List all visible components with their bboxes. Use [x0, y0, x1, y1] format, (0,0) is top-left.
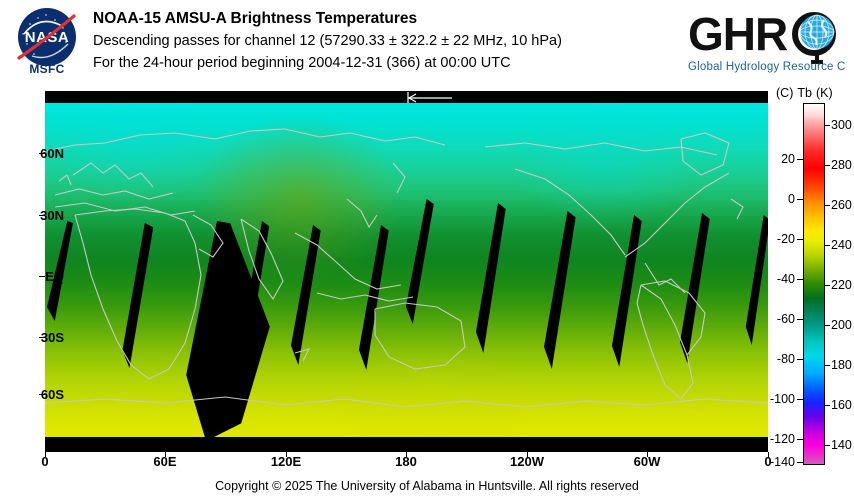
colorbar-tick-k-200	[824, 325, 830, 326]
ghrc-tagline: Global Hydrology Resource Center	[688, 61, 846, 73]
colorbar-tick-c-m140	[797, 462, 803, 463]
title-block: NOAA-15 AMSU-A Brightness Temperatures D…	[93, 8, 673, 74]
lat-label-30s: 30S	[4, 331, 64, 344]
lon-label-60e: 60E	[135, 455, 195, 468]
nasa-center-label: MSFC	[10, 62, 84, 76]
colorbar-tick-c-m40	[797, 279, 803, 280]
colorbar-variable: Tb	[797, 86, 812, 100]
colorbar-label-k-240: 240	[831, 239, 854, 251]
colorbar-label-k-160: 160	[831, 399, 854, 411]
colorbar-tick-k-300	[824, 125, 830, 126]
colorbar-label-c-m100: -100	[757, 393, 795, 405]
lat-label-60s: 60S	[4, 388, 64, 401]
colorbar-header: (C)Tb(K)	[776, 86, 837, 100]
colorbar-tick-k-160	[824, 405, 830, 406]
map-figure[interactable]	[45, 91, 768, 452]
colorbar-label-c-m120: -120	[757, 433, 795, 445]
ghrc-logo: GHR Global Hydrology Resource Center	[686, 2, 846, 78]
map-data-area[interactable]	[45, 103, 768, 437]
colorbar-label-k-300: 300	[831, 119, 854, 131]
lon-label-60w: 60W	[617, 455, 677, 468]
colorbar-label-k-140: 140	[831, 439, 854, 451]
lon-label-0w: 0	[15, 455, 75, 468]
lat-label-30n: 30N	[4, 209, 64, 222]
colorbar-tick-c-m60	[797, 319, 803, 320]
lat-label-eq: EQ	[4, 270, 64, 283]
colorbar-unit-kelvin: (K)	[816, 86, 833, 100]
colorbar-label-c-m80: -80	[757, 353, 795, 365]
colorbar-unit-celsius: (C)	[776, 86, 793, 100]
colorbar-label-k-220: 220	[831, 279, 854, 291]
lat-tick-30s	[39, 337, 45, 338]
colorbar-tick-c-0	[797, 199, 803, 200]
colorbar-tick-k-240	[824, 245, 830, 246]
lon-label-120e: 120E	[256, 455, 316, 468]
colorbar-gradient	[803, 103, 825, 465]
lat-label-60n: 60N	[4, 147, 64, 160]
colorbar-tick-c-m120	[797, 439, 803, 440]
colorbar-tick-k-260	[824, 205, 830, 206]
swath-direction-arrow	[400, 91, 460, 103]
lon-label-120w: 120W	[497, 455, 557, 468]
colorbar-label-k-200: 200	[831, 319, 854, 331]
colorbar-label-c-20: 20	[757, 153, 795, 165]
colorbar-tick-k-140	[824, 445, 830, 446]
coastline-overlay	[45, 103, 768, 437]
title-subtitle-channel: Descending passes for channel 12 (57290.…	[93, 30, 673, 52]
title-subtitle-period: For the 24-hour period beginning 2004-12…	[93, 52, 673, 74]
svg-text:GHR: GHR	[688, 8, 788, 60]
colorbar-label-k-280: 280	[831, 159, 854, 171]
colorbar-label-c-m20: -20	[757, 233, 795, 245]
lon-label-180: 180	[376, 455, 436, 468]
colorbar-tick-c-m100	[797, 399, 803, 400]
colorbar-label-k-180: 180	[831, 359, 854, 371]
colorbar-tick-k-180	[824, 365, 830, 366]
lat-tick-30n	[39, 215, 45, 216]
copyright-footer: Copyright © 2025 The University of Alaba…	[0, 479, 854, 493]
colorbar-label-c-m40: -40	[757, 273, 795, 285]
lat-tick-60s	[39, 394, 45, 395]
colorbar-tick-c-m80	[797, 359, 803, 360]
lat-tick-60n	[39, 153, 45, 154]
colorbar-tick-k-220	[824, 285, 830, 286]
colorbar-label-c-m140: -140	[757, 456, 795, 468]
colorbar-label-c-m60: -60	[757, 313, 795, 325]
lat-tick-eq	[39, 276, 45, 277]
colorbar-label-k-260: 260	[831, 199, 854, 211]
colorbar-tick-c-m20	[797, 239, 803, 240]
colorbar-tick-k-280	[824, 165, 830, 166]
page-title: NOAA-15 AMSU-A Brightness Temperatures	[93, 8, 673, 30]
colorbar-tick-c-20	[797, 159, 803, 160]
colorbar-label-c-0: 0	[757, 193, 795, 205]
